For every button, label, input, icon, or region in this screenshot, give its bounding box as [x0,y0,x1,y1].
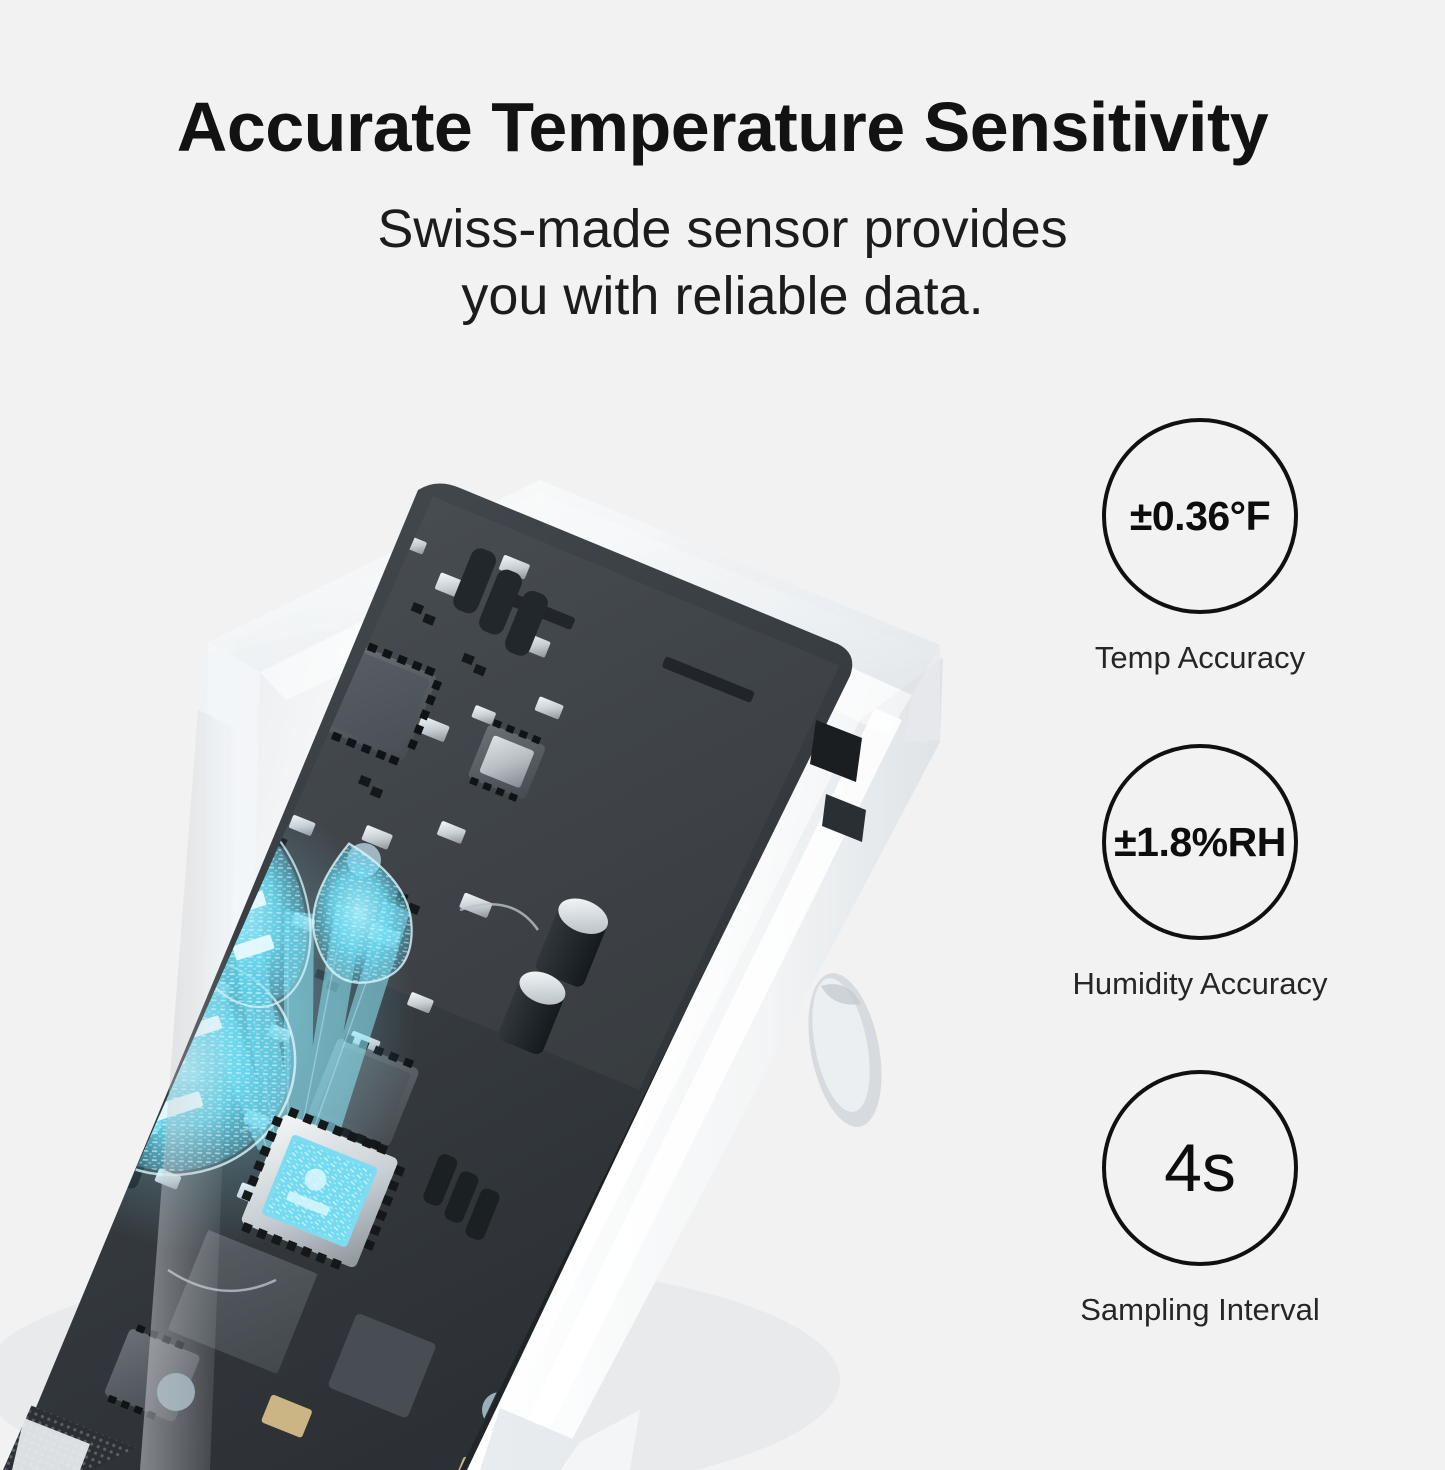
spec-label-sampling-interval: Sampling Interval [1000,1292,1400,1328]
header-block: Accurate Temperature Sensitivity Swiss-m… [0,0,1445,330]
page-subtitle: Swiss-made sensor provides you with reli… [0,196,1445,330]
spec-label-temp-accuracy: Temp Accuracy [1000,640,1400,676]
spec-circle-sampling-interval: 4s [1102,1070,1298,1266]
spec-value-humidity-accuracy: ±1.8%RH [1114,819,1286,866]
spec-list: ±0.36°F Temp Accuracy ±1.8%RH Humidity A… [1000,418,1400,1328]
spec-value-temp-accuracy: ±0.36°F [1130,493,1270,540]
spec-item-sampling-interval: 4s Sampling Interval [1000,1070,1400,1328]
page-title: Accurate Temperature Sensitivity [0,92,1445,162]
spec-circle-temp-accuracy: ±0.36°F [1102,418,1298,614]
product-image [0,390,1000,1470]
spec-item-temp-accuracy: ±0.36°F Temp Accuracy [1000,418,1400,676]
spec-item-humidity-accuracy: ±1.8%RH Humidity Accuracy [1000,744,1400,1002]
spec-label-humidity-accuracy: Humidity Accuracy [1000,966,1400,1002]
spec-value-sampling-interval: 4s [1164,1129,1236,1207]
spec-circle-humidity-accuracy: ±1.8%RH [1102,744,1298,940]
subtitle-line-1: Swiss-made sensor provides [0,196,1445,263]
hang-hole [797,967,894,1133]
subtitle-line-2: you with reliable data. [0,263,1445,330]
